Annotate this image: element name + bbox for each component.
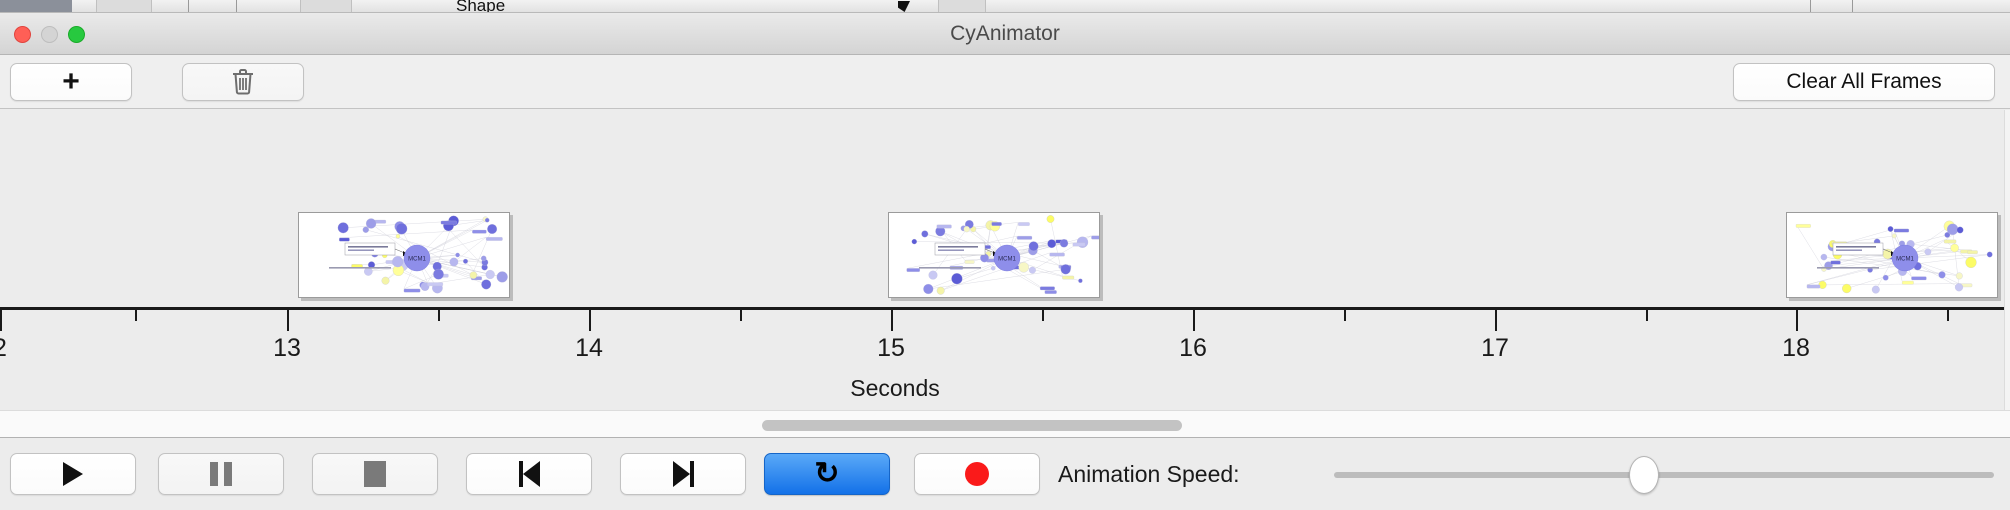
svg-text:MCM1: MCM1 bbox=[998, 257, 1016, 263]
ruler-axis-line bbox=[0, 307, 2010, 310]
background-window-cursor-icon bbox=[898, 1, 910, 12]
skip-back-icon bbox=[519, 461, 540, 487]
ruler-tick bbox=[1796, 310, 1798, 331]
window-title: CyAnimator bbox=[0, 13, 2010, 55]
record-button[interactable] bbox=[914, 453, 1040, 495]
animation-speed-label: Animation Speed: bbox=[1058, 461, 1240, 488]
ruler-tick bbox=[589, 310, 591, 331]
ruler-tick bbox=[1042, 310, 1044, 321]
clear-all-frames-button[interactable]: Clear All Frames bbox=[1733, 63, 1995, 101]
ruler-tick bbox=[438, 310, 440, 321]
play-button[interactable] bbox=[10, 453, 136, 495]
background-window-box bbox=[938, 0, 986, 13]
background-window-sidebar bbox=[0, 0, 72, 13]
ruler-tick bbox=[740, 310, 742, 321]
timeline-frame-thumbnail[interactable]: MCM1 bbox=[298, 212, 510, 298]
playback-bar: ↻ Animation Speed: bbox=[0, 438, 2010, 510]
ruler-tick bbox=[1495, 310, 1497, 331]
background-window-label: Shape bbox=[456, 0, 505, 13]
background-window-strip: Shape bbox=[0, 0, 2010, 13]
frames-track[interactable]: MCM1MCM1MCM1 bbox=[0, 110, 2010, 307]
plus-icon: + bbox=[62, 67, 80, 97]
close-button[interactable] bbox=[14, 26, 31, 43]
skip-forward-icon bbox=[673, 461, 694, 487]
clear-all-frames-label: Clear All Frames bbox=[1786, 70, 1941, 94]
background-window-box bbox=[96, 0, 152, 13]
timeline-ruler[interactable]: 2131415161718 Seconds bbox=[0, 307, 2010, 410]
toolbar: + Clear All Frames bbox=[0, 55, 2010, 109]
play-icon bbox=[63, 462, 83, 486]
ruler-tick bbox=[135, 310, 137, 321]
timeline-panel[interactable]: MCM1MCM1MCM1 2131415161718 Seconds bbox=[0, 110, 2010, 410]
ruler-tick-label: 13 bbox=[273, 334, 301, 363]
ruler-tick-label: 15 bbox=[877, 334, 905, 363]
ruler-tick bbox=[1344, 310, 1346, 321]
ruler-tick-label: 18 bbox=[1782, 334, 1810, 363]
slider-thumb[interactable] bbox=[1629, 456, 1659, 494]
stop-icon bbox=[364, 461, 386, 487]
background-window-box bbox=[300, 0, 352, 13]
zoom-button[interactable] bbox=[68, 26, 85, 43]
pause-button[interactable] bbox=[158, 453, 284, 495]
next-frame-button[interactable] bbox=[620, 453, 746, 495]
ruler-axis-title-label: Seconds bbox=[850, 375, 940, 402]
ruler-tick-label: 2 bbox=[0, 334, 7, 363]
background-window-tick bbox=[236, 0, 237, 13]
loop-icon: ↻ bbox=[814, 459, 839, 489]
background-window-tick bbox=[188, 0, 189, 13]
minimize-button[interactable] bbox=[41, 26, 58, 43]
ruler-tick bbox=[0, 310, 2, 331]
background-window-tick bbox=[1852, 0, 1853, 13]
ruler-tick-label: 16 bbox=[1179, 334, 1207, 363]
cyanimator-window: Shape CyAnimator + bbox=[0, 0, 2010, 510]
timeline-horizontal-scrollbar[interactable] bbox=[0, 410, 2010, 438]
titlebar: CyAnimator bbox=[0, 13, 2010, 55]
pause-icon bbox=[210, 462, 232, 486]
record-icon bbox=[965, 462, 989, 486]
trash-icon bbox=[230, 68, 256, 96]
ruler-tick bbox=[287, 310, 289, 331]
loop-button[interactable]: ↻ bbox=[764, 453, 890, 495]
add-frame-button[interactable]: + bbox=[10, 63, 132, 101]
timeline-right-edge bbox=[2004, 110, 2010, 410]
timeline-frame-thumbnail[interactable]: MCM1 bbox=[888, 212, 1100, 298]
background-window-tick bbox=[1810, 0, 1811, 13]
svg-text:MCM1: MCM1 bbox=[1896, 257, 1914, 263]
ruler-tick bbox=[891, 310, 893, 331]
timeline-frame-thumbnail[interactable]: MCM1 bbox=[1786, 212, 1998, 298]
animation-speed-slider[interactable] bbox=[1334, 472, 1994, 478]
slider-track[interactable] bbox=[1334, 472, 1994, 478]
ruler-axis-title: Seconds bbox=[0, 375, 2010, 402]
ruler-tick bbox=[1947, 310, 1949, 321]
ruler-tick bbox=[1193, 310, 1195, 331]
svg-text:MCM1: MCM1 bbox=[408, 257, 426, 263]
ruler-tick-label: 14 bbox=[575, 334, 603, 363]
delete-frame-button[interactable] bbox=[182, 63, 304, 101]
scrollbar-thumb[interactable] bbox=[762, 420, 1182, 431]
traffic-lights bbox=[14, 26, 85, 43]
stop-button[interactable] bbox=[312, 453, 438, 495]
ruler-tick-label: 17 bbox=[1481, 334, 1509, 363]
ruler-tick bbox=[1646, 310, 1648, 321]
prev-frame-button[interactable] bbox=[466, 453, 592, 495]
